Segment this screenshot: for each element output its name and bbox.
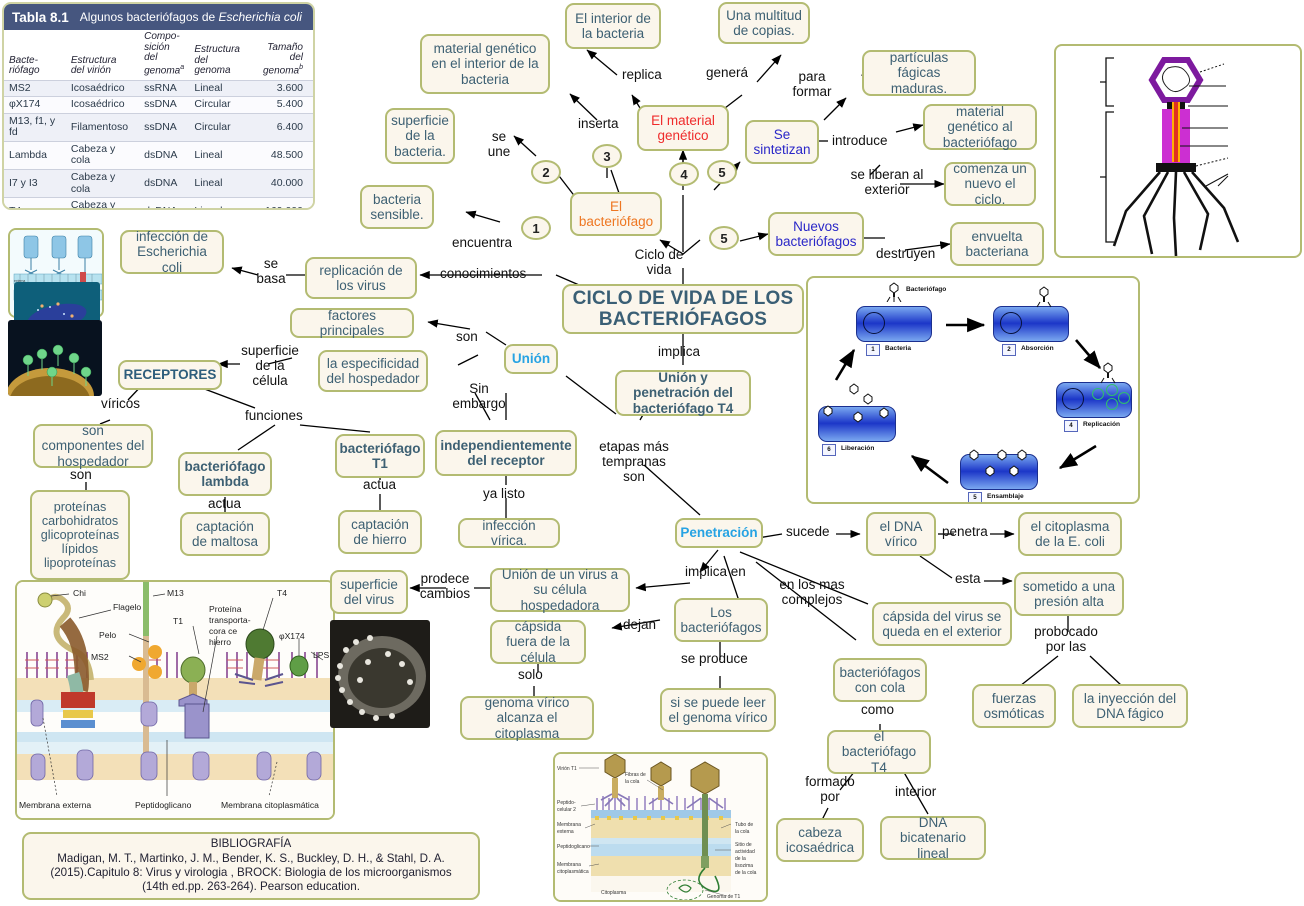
table-cell: Cabeza y cola bbox=[66, 141, 139, 169]
table-cell: Cabeza y cola bbox=[66, 169, 139, 197]
svg-text:T1: T1 bbox=[173, 616, 183, 626]
table-row: T4Cabeza y coladsDNALineal169.000 bbox=[4, 198, 313, 210]
node-nuevos-bacteriofagos[interactable]: Nuevos bacteriófagos bbox=[768, 212, 864, 256]
cycle-step-label-6: Liberación bbox=[841, 445, 874, 452]
tabla-body: MS2IcosaédricossRNALineal3.600φX174Icosa… bbox=[4, 80, 313, 210]
link-label-penetra: penetra bbox=[942, 525, 988, 540]
step-number-3: 3 bbox=[592, 144, 622, 168]
table-row: M13, f1, y fdFilamentosossDNACircular6.4… bbox=[4, 113, 313, 141]
svg-text:lisozima: lisozima bbox=[735, 863, 753, 869]
table-row: φX174IcosaédricossDNACircular5.400 bbox=[4, 97, 313, 114]
node-cabeza-icosaedrica[interactable]: cabeza icosaédrica bbox=[776, 818, 864, 862]
receptor-membrane-image: Chi Flagelo Pelo MS2 M13 T1 Proteínatran… bbox=[15, 580, 335, 820]
cycle-legend-label: Bacteriófago bbox=[906, 286, 946, 293]
svg-text:M13: M13 bbox=[167, 588, 184, 598]
cycle-nucleoid-4 bbox=[1062, 388, 1084, 410]
table-cell: M13, f1, y fd bbox=[4, 113, 66, 141]
link-label-actua1: actua bbox=[208, 497, 241, 512]
svg-text:externa: externa bbox=[557, 829, 574, 835]
svg-text:la cola: la cola bbox=[735, 829, 750, 835]
bibliography-box: BIBLIOGRAFÍA Madigan, M. T., Martinko, J… bbox=[22, 832, 480, 900]
svg-text:transporta-: transporta- bbox=[209, 615, 251, 625]
node-comenza-ciclo[interactable]: comenza un nuevo el ciclo. bbox=[944, 162, 1036, 206]
col-head-4: Tamaño delgenomab bbox=[249, 30, 313, 80]
link-label-se-une: se une bbox=[484, 130, 514, 160]
cycle-step-num-4: 4 bbox=[1064, 420, 1078, 432]
table-cell: 5.400 bbox=[249, 97, 313, 114]
bibliography-line-3: (14th ed.pp. 263-264). Pearson education… bbox=[142, 880, 360, 894]
cycle-nucleoid-2 bbox=[1000, 312, 1022, 334]
link-label-solo: solo bbox=[518, 668, 543, 683]
link-label-encuentra: encuentra bbox=[452, 236, 512, 251]
link-label-esta: esta bbox=[955, 572, 981, 587]
link-label-formado-por: formado por bbox=[800, 775, 860, 805]
svg-text:celular 2: celular 2 bbox=[557, 807, 576, 813]
col-head-3: Estructuradel genoma bbox=[189, 30, 249, 80]
svg-text:LPS: LPS bbox=[313, 650, 330, 660]
link-label-superficie-celula: superficie de la célula bbox=[238, 344, 302, 389]
svg-text:Peptido-: Peptido- bbox=[557, 800, 576, 806]
concept-map-canvas: Tabla 8.1 Algunos bacteriófagos de Esche… bbox=[0, 0, 1304, 906]
cycle-nucleoid-1 bbox=[863, 312, 885, 334]
step-number-1: 1 bbox=[521, 216, 551, 240]
svg-text:citoplasmática: citoplasmática bbox=[557, 869, 589, 875]
col-head-1: Estructuradel virión bbox=[66, 30, 139, 80]
node-material-genetico[interactable]: El material genético bbox=[637, 105, 729, 151]
link-label-probocado: probocado por las bbox=[1031, 625, 1101, 655]
table-row: MS2IcosaédricossRNALineal3.600 bbox=[4, 80, 313, 97]
bibliography-line-2: (2015).Capitulo 8: Virus y virologia , B… bbox=[50, 866, 451, 880]
node-genoma-citoplasma[interactable]: genoma vírico alcanza el citoplasma bbox=[460, 696, 594, 740]
table-cell: ssDNA bbox=[139, 97, 189, 114]
tabla-caption: Algunos bacteriófagos de Escherichia col… bbox=[80, 10, 302, 24]
virus-micrograph-art bbox=[330, 620, 430, 728]
node-sometido-presion[interactable]: sometido a una presión alta bbox=[1014, 572, 1124, 616]
table-cell: 3.600 bbox=[249, 80, 313, 97]
lytic-cycle-image: Bacteriófago 1 Bacteria 2 Absorción 4 Re… bbox=[806, 276, 1140, 504]
link-label-actua2: actua bbox=[363, 478, 396, 493]
table-cell: Circular bbox=[189, 97, 249, 114]
svg-text:Membrana externa: Membrana externa bbox=[19, 800, 91, 810]
node-material-interior[interactable]: material genético en el interior de la b… bbox=[420, 34, 550, 94]
svg-text:Citoplasma: Citoplasma bbox=[601, 890, 626, 896]
table-cell: Circular bbox=[189, 113, 249, 141]
link-label-replica: replica bbox=[622, 68, 662, 83]
phage-anatomy-image: Cápside proteica DNA Collar Lámina Núcle… bbox=[1054, 44, 1302, 258]
node-receptores[interactable]: RECEPTORES bbox=[118, 360, 222, 390]
node-el-bacteriofago[interactable]: El bacteriófago bbox=[570, 192, 662, 236]
t1-penetration-art: Virión T1 Fibras dela cola Peptido-celul… bbox=[555, 754, 768, 902]
link-label-destruyen: destruyen bbox=[876, 247, 935, 262]
link-label-implica-en: implica en bbox=[685, 565, 746, 580]
link-label-se-produce: se produce bbox=[681, 652, 748, 667]
node-fuerzas-osmoticas[interactable]: fuerzas osmóticas bbox=[972, 684, 1056, 728]
table-cell: Icosaédrico bbox=[66, 80, 139, 97]
node-especificidad[interactable]: la especificidad del hospedador bbox=[318, 350, 428, 392]
table-cell: Cabeza y cola bbox=[66, 198, 139, 210]
node-envuelta-bacteriana[interactable]: envuelta bacteriana bbox=[950, 222, 1044, 266]
svg-text:Chi: Chi bbox=[73, 588, 86, 598]
node-material-al-bacteriofago[interactable]: material genético al bacteriófago bbox=[923, 104, 1037, 150]
link-label-funciones: funciones bbox=[245, 409, 303, 424]
node-union[interactable]: Unión bbox=[504, 344, 558, 374]
node-los-bacteriofagos[interactable]: Los bacteriófagos bbox=[674, 598, 768, 642]
table-cell: dsDNA bbox=[139, 169, 189, 197]
link-label-dejan: dejan bbox=[623, 618, 656, 633]
cycle-replicant-c bbox=[1106, 398, 1118, 410]
step-number-5b: 5 bbox=[709, 226, 739, 250]
cycle-phage-icon-4 bbox=[1100, 362, 1116, 384]
step-number-4: 4 bbox=[669, 162, 699, 186]
table-cell: ssRNA bbox=[139, 80, 189, 97]
table-row: I7 y I3Cabeza y coladsDNALineal40.000 bbox=[4, 169, 313, 197]
node-infeccion-ecoli[interactable]: infección de Escherichia coli bbox=[120, 230, 224, 274]
table-cell: 48.500 bbox=[249, 141, 313, 169]
cycle-step-num-6: 6 bbox=[822, 444, 836, 456]
node-replicacion-virus[interactable]: replicación de los virus bbox=[305, 257, 417, 299]
svg-text:Peptidoglicano: Peptidoglicano bbox=[135, 800, 192, 810]
cycle-replicant-a bbox=[1092, 388, 1104, 400]
cycle-replicant-b bbox=[1106, 384, 1118, 396]
cycle-step-label-5: Ensamblaje bbox=[987, 493, 1024, 500]
node-dna-virico[interactable]: el DNA vírico bbox=[866, 512, 936, 556]
svg-text:Membrana: Membrana bbox=[557, 862, 581, 868]
node-si-se-puede-leer[interactable]: si se puede leer el genoma vírico bbox=[660, 688, 776, 732]
tabla-8-1: Tabla 8.1 Algunos bacteriófagos de Esche… bbox=[2, 2, 315, 210]
link-label-conocimientos: conocimientos bbox=[440, 267, 526, 282]
node-captacion-maltosa[interactable]: captación de maltosa bbox=[180, 512, 270, 556]
node-dna-bicatenario[interactable]: DNA bicatenario lineal bbox=[880, 816, 986, 860]
svg-text:de la: de la bbox=[735, 856, 746, 862]
node-inyeccion-dna[interactable]: la inyección del DNA fágico bbox=[1072, 684, 1188, 728]
cycle-legend-phage-icon bbox=[886, 282, 902, 302]
tabla-label: Tabla 8.1 bbox=[12, 10, 69, 25]
step-number-5a: 5 bbox=[707, 160, 737, 184]
table-cell: Lambda bbox=[4, 141, 66, 169]
cycle-phage-icons-5 bbox=[968, 448, 1034, 488]
table-cell: Icosaédrico bbox=[66, 97, 139, 114]
svg-text:cora ce: cora ce bbox=[209, 626, 237, 636]
table-cell: MS2 bbox=[4, 80, 66, 97]
node-independientemente[interactable]: independientemente del receptor bbox=[435, 430, 577, 476]
svg-text:Virión T1: Virión T1 bbox=[557, 766, 577, 772]
node-se-sintetizan[interactable]: Se sintetizan bbox=[745, 120, 819, 164]
table-cell: ssDNA bbox=[139, 113, 189, 141]
svg-text:MS2: MS2 bbox=[91, 652, 109, 662]
table-cell: 169.000 bbox=[249, 198, 313, 210]
svg-text:Proteína: Proteína bbox=[209, 604, 242, 614]
table-cell: 40.000 bbox=[249, 169, 313, 197]
link-label-introduce: introduce bbox=[832, 134, 888, 149]
svg-text:Peptidoglicano: Peptidoglicano bbox=[557, 844, 590, 850]
svg-text:Tubo de: Tubo de bbox=[735, 822, 753, 828]
link-label-son2: son bbox=[70, 468, 92, 483]
link-label-viricos: víricos bbox=[101, 397, 140, 412]
cycle-phage-icons-6 bbox=[820, 382, 904, 440]
link-label-genera: generá bbox=[706, 66, 748, 81]
cycle-step-label-1: Bacteria bbox=[885, 345, 911, 352]
node-union-virus-celula[interactable]: Unión de un virus a su célula hospedador… bbox=[490, 568, 630, 612]
link-label-prodece-cambios: prodece cambios bbox=[414, 572, 476, 602]
node-superficie-bacteria[interactable]: superficie de la bacteria. bbox=[385, 108, 455, 164]
svg-text:Pelo: Pelo bbox=[99, 630, 116, 640]
receptor-membrane-art: Chi Flagelo Pelo MS2 M13 T1 Proteínatran… bbox=[17, 582, 335, 820]
node-bacteriofago-t1[interactable]: bacteriófago T1 bbox=[335, 434, 425, 478]
svg-text:hierro: hierro bbox=[209, 637, 231, 647]
table-cell: I7 y I3 bbox=[4, 169, 66, 197]
node-bacteria-sensible[interactable]: bacteria sensible. bbox=[360, 185, 434, 229]
link-label-en-los-mas-complejos: en los mas complejos bbox=[772, 578, 852, 608]
node-multitud-copias[interactable]: Una multitud de copias. bbox=[718, 2, 810, 44]
link-label-como: como bbox=[861, 703, 894, 718]
table-cell: T4 bbox=[4, 198, 66, 210]
link-label-para-formar: para formar bbox=[786, 70, 838, 100]
node-infeccion-virica[interactable]: infección vírica. bbox=[458, 518, 560, 548]
table-cell: dsDNA bbox=[139, 141, 189, 169]
link-label-ya-listo: ya listo bbox=[483, 487, 525, 502]
step-number-2: 2 bbox=[531, 160, 561, 184]
page-title: CICLO DE VIDA DE LOS BACTERIÓFAGOS bbox=[562, 284, 804, 334]
node-citoplasma-ecoli[interactable]: el citoplasma de la E. coli bbox=[1018, 512, 1122, 556]
node-bacteriofagos-con-cola[interactable]: bacteriófagos con cola bbox=[833, 658, 927, 702]
node-proteinas-lista[interactable]: proteínas carbohidratos glicoproteínas l… bbox=[30, 490, 130, 580]
table-cell: Lineal bbox=[189, 141, 249, 169]
svg-text:Membrana citoplasmática: Membrana citoplasmática bbox=[221, 800, 319, 810]
svg-text:de la cola: de la cola bbox=[735, 870, 757, 876]
table-cell: Lineal bbox=[189, 169, 249, 197]
link-label-implica: implica bbox=[658, 345, 700, 360]
phage-anatomy-svg bbox=[1056, 46, 1302, 258]
node-capsida-exterior[interactable]: cápsida del virus se queda en el exterio… bbox=[872, 602, 1012, 646]
node-factores-principales[interactable]: factores principales bbox=[290, 308, 414, 338]
table-row: LambdaCabeza y coladsDNALineal48.500 bbox=[4, 141, 313, 169]
table-cell: φX174 bbox=[4, 97, 66, 114]
svg-text:Membrana: Membrana bbox=[557, 822, 581, 828]
svg-text:Flagelo: Flagelo bbox=[113, 602, 141, 612]
table-cell: Filamentoso bbox=[66, 113, 139, 141]
svg-text:actividad: actividad bbox=[735, 849, 755, 855]
t1-penetration-image: Virión T1 Fibras dela cola Peptido-celul… bbox=[553, 752, 768, 902]
node-captacion-hierro[interactable]: captación de hierro bbox=[338, 510, 422, 554]
svg-text:Fibras de: Fibras de bbox=[625, 772, 646, 778]
link-label-se-basa: se basa bbox=[254, 257, 288, 287]
tabla-header: Tabla 8.1 Algunos bacteriófagos de Esche… bbox=[4, 4, 313, 30]
cycle-step-label-2: Absorción bbox=[1021, 345, 1054, 352]
cycle-step-num-5: 5 bbox=[968, 492, 982, 504]
table-cell: Lineal bbox=[189, 198, 249, 210]
node-bacteriofago-lambda[interactable]: bacteriófago lambda bbox=[178, 452, 272, 496]
bibliography-line-1: Madigan, M. T., Martinko, J. M., Bender,… bbox=[57, 852, 444, 866]
node-penetracion[interactable]: Penetración bbox=[675, 518, 763, 548]
bibliography-heading: BIBLIOGRAFÍA bbox=[211, 837, 292, 851]
svg-text:φX174: φX174 bbox=[279, 631, 305, 641]
node-el-bacteriofago-t4[interactable]: el bacteriófago T4 bbox=[827, 730, 931, 774]
link-label-inserta: inserta bbox=[578, 117, 619, 132]
cycle-step-num-1: 1 bbox=[866, 344, 880, 356]
link-label-ciclo-de-vida: Ciclo de vida bbox=[631, 248, 687, 278]
svg-text:Sitio de: Sitio de bbox=[735, 842, 752, 848]
link-label-sin-embargo: Sin embargo bbox=[450, 382, 508, 412]
table-cell: Lineal bbox=[189, 80, 249, 97]
link-label-son: son bbox=[456, 330, 478, 345]
cycle-step-label-4: Replicación bbox=[1083, 421, 1120, 428]
phage-on-cell-art bbox=[8, 320, 102, 396]
virus-micrograph-thumbnail bbox=[330, 620, 430, 728]
tabla-grid: Bacte-riófago Estructuradel virión Compo… bbox=[4, 30, 313, 210]
cycle-phage-icon-2 bbox=[1036, 286, 1052, 308]
cycle-replicant-d bbox=[1118, 392, 1130, 404]
phage-on-cell-thumbnail bbox=[8, 320, 102, 396]
svg-text:la cola: la cola bbox=[625, 779, 640, 785]
link-label-sucede: sucede bbox=[786, 525, 830, 540]
node-particulas-fagicas[interactable]: partículas fágicas maduras. bbox=[862, 50, 976, 96]
link-label-interior: interior bbox=[895, 785, 936, 800]
col-head-2: Compo-sición delgenomaa bbox=[139, 30, 189, 80]
table-cell: dsDNA bbox=[139, 198, 189, 210]
svg-text:T4: T4 bbox=[277, 588, 287, 598]
node-interior-bacteria[interactable]: El interior de la bacteria bbox=[565, 3, 661, 49]
node-capsida-fuera[interactable]: cápsida fuera de la célula bbox=[490, 620, 586, 664]
col-head-0: Bacte-riófago bbox=[4, 30, 66, 80]
cycle-step-num-2: 2 bbox=[1002, 344, 1016, 356]
node-son-componentes[interactable]: son componentes del hospedador bbox=[33, 424, 153, 468]
node-union-penetracion-t4[interactable]: Unión y penetración del bacteriófago T4 bbox=[615, 370, 751, 416]
link-label-se-liberan: se liberan al exterior bbox=[847, 168, 927, 198]
node-superficie-virus[interactable]: superficie del virus bbox=[330, 570, 408, 614]
table-cell: 6.400 bbox=[249, 113, 313, 141]
link-label-etapas: etapas más tempranas son bbox=[595, 440, 673, 485]
